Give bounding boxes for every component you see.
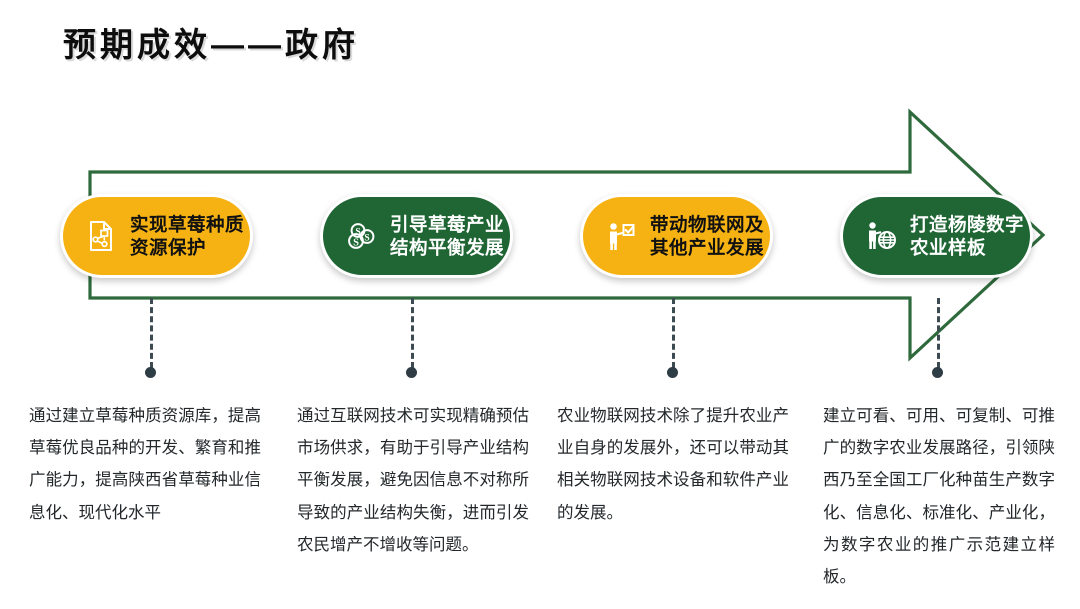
step-pill-3-label: 带动物联网及 其他产业发展 (650, 213, 764, 260)
coins-money-icon: S S S (343, 218, 379, 254)
step-pill-1-label: 实现草莓种质 资源保护 (130, 213, 244, 260)
person-globe-icon (863, 218, 899, 254)
step-pill-4[interactable]: 打造杨陵数字 农业样板 (840, 194, 1033, 278)
document-network-icon (83, 218, 119, 254)
step-pill-1[interactable]: 实现草莓种质 资源保护 (60, 194, 253, 278)
connector-dot-1 (145, 367, 156, 378)
svg-text:S: S (364, 233, 369, 243)
step-description-1: 通过建立草莓种质资源库，提高草莓优良品种的开发、繁育和推广能力，提高陕西省草莓种… (29, 400, 261, 529)
connector-line-2 (411, 298, 414, 368)
connector-dot-3 (667, 367, 678, 378)
connector-line-1 (150, 298, 153, 368)
step-pill-3[interactable]: 带动物联网及 其他产业发展 (580, 194, 773, 278)
step-description-2: 通过互联网技术可实现精确预估市场供求，有助于引导产业结构平衡发展，避免因信息不对… (297, 400, 529, 561)
page-title: 预期成效——政府 (63, 18, 359, 66)
step-pill-2-label: 引导草莓产业 结构平衡发展 (390, 213, 504, 260)
step-pill-2[interactable]: S S S 引导草莓产业 结构平衡发展 (320, 194, 513, 278)
connector-dot-4 (932, 367, 943, 378)
connector-line-3 (672, 298, 675, 368)
svg-text:S: S (353, 237, 359, 248)
step-description-4: 建立可看、可用、可复制、可推广的数字农业发展路径，引领陕西乃至全国工厂化种苗生产… (823, 400, 1055, 593)
connector-line-4 (937, 298, 940, 368)
slide-canvas: 预期成效——政府 实现草莓种质 资源保护 S (0, 0, 1080, 609)
step-pill-4-label: 打造杨陵数字 农业样板 (910, 213, 1024, 260)
connector-dot-2 (406, 367, 417, 378)
step-description-3: 农业物联网技术除了提升农业产业自身的发展外，还可以带动其相关物联网技术设备和软件… (557, 400, 789, 529)
person-checklist-icon (603, 218, 639, 254)
